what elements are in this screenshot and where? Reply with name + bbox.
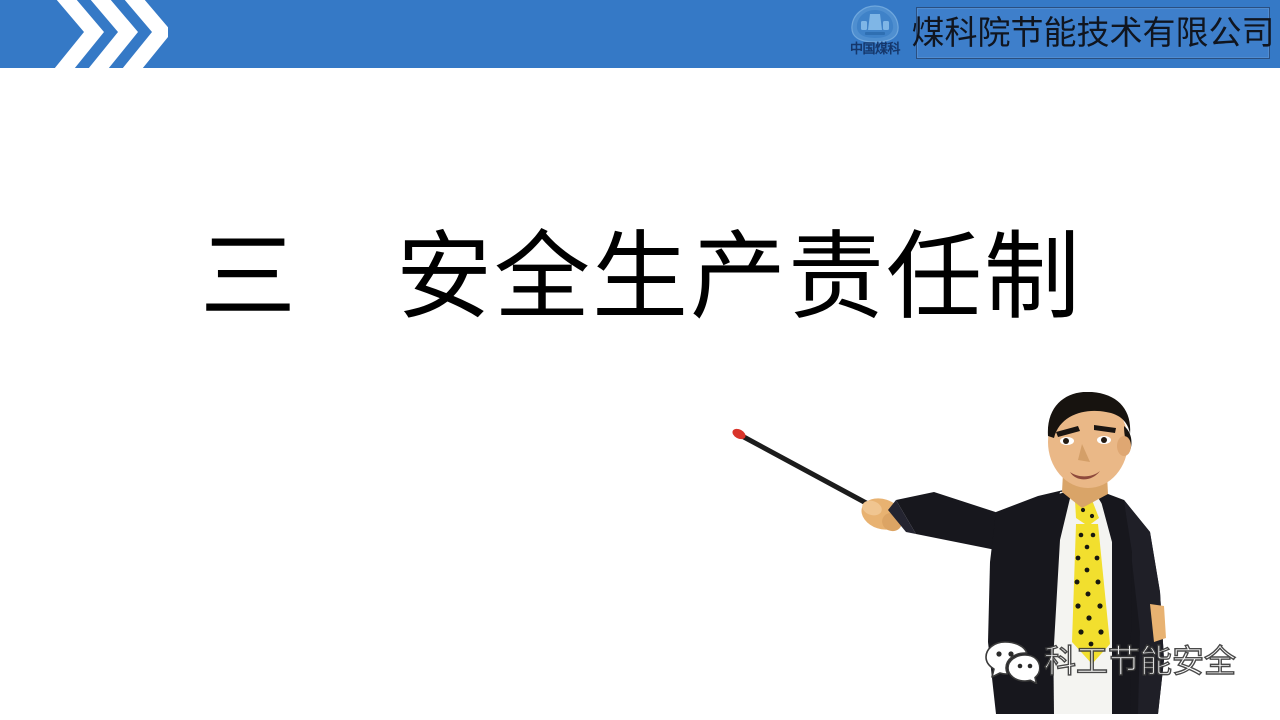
page-title: 三 安全生产责任制 xyxy=(200,222,1100,332)
wechat-watermark: 科工节能安全 xyxy=(984,636,1260,686)
company-name-box[interactable]: 煤科院节能技术有限公司 xyxy=(916,7,1270,59)
company-name-text: 煤科院节能技术有限公司 xyxy=(912,15,1275,51)
head-shape xyxy=(1048,392,1132,488)
china-coal-technology-emblem-icon xyxy=(846,4,904,44)
wechat-icon xyxy=(984,638,1040,684)
slide-canvas: 中国煤科 煤科院节能技术有限公司 三 安全生产责任制 xyxy=(0,0,1280,720)
triple-chevron-right-icon xyxy=(48,0,168,68)
slide-header-band: 中国煤科 煤科院节能技术有限公司 xyxy=(0,0,1280,68)
corporate-logo-caption: 中国煤科 xyxy=(836,42,914,58)
watermark-text: 科工节能安全 xyxy=(1044,643,1236,679)
pointer-stick-icon xyxy=(731,427,868,504)
corporate-logo: 中国煤科 xyxy=(836,4,914,64)
